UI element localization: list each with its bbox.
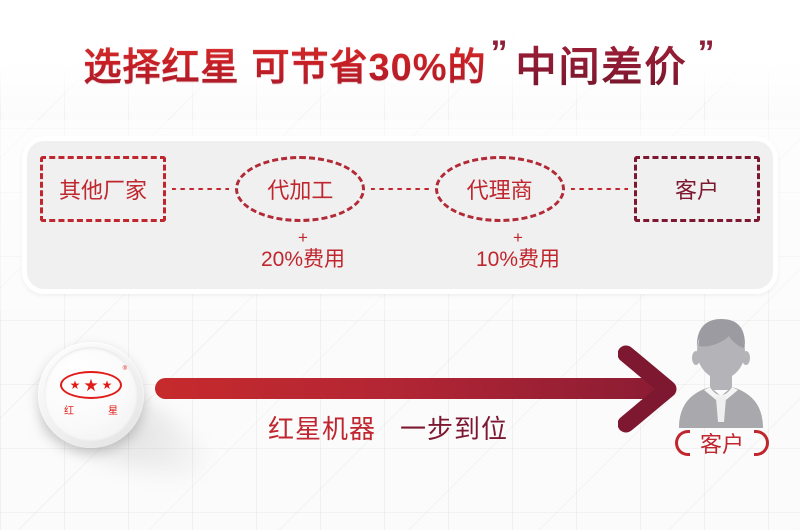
bracket-left-icon xyxy=(675,430,690,456)
fee-amount: 20%费用 xyxy=(228,248,378,272)
logo-stars-ellipse: ★ ★ ★ ® xyxy=(60,371,122,399)
fee-plus-sign: + xyxy=(228,228,378,248)
logo-badge-face: ★ ★ ★ ® 红 星 xyxy=(44,347,138,441)
flow-node-label: 代加工 xyxy=(267,173,333,205)
flow-node-label: 其他厂家 xyxy=(59,173,147,205)
logo-char-xing: 星 xyxy=(108,402,118,417)
flow-node-other-factory: 其他厂家 xyxy=(40,156,166,222)
flow-connector-2 xyxy=(371,187,428,191)
customer-tag: 客户 xyxy=(652,426,792,460)
flow-node-customer: 客户 xyxy=(634,156,760,222)
tagline-direct: 一步到位 xyxy=(400,409,508,446)
middleman-flow-panel: 其他厂家 代加工 代理商 客户 + 20%费用 + 10%费用 xyxy=(22,136,778,294)
logo-char-hong: 红 xyxy=(64,402,74,417)
headline-middle: 可节省30%的 xyxy=(251,36,486,91)
star-icon-left: ★ xyxy=(70,379,81,391)
flow-chain: 其他厂家 代加工 代理商 客户 xyxy=(22,154,778,224)
headline-lead: 选择红星 xyxy=(83,36,239,91)
flow-node-label: 代理商 xyxy=(467,173,533,205)
star-icon-center: ★ xyxy=(83,377,98,394)
headline: 选择红星 可节省30%的 ” 中间差价 ” xyxy=(0,32,800,94)
flow-node-agent: 代理商 xyxy=(435,156,565,222)
star-icon-right: ★ xyxy=(102,379,113,391)
quote-open-mark: ” xyxy=(487,34,510,73)
fee-amount: 10%费用 xyxy=(443,248,593,272)
logo-badge: ★ ★ ★ ® 红 星 xyxy=(38,342,144,448)
promo-graphic: 选择红星 可节省30%的 ” 中间差价 ” 其他厂家 代加工 代理商 客户 xyxy=(0,0,800,530)
registered-mark-icon: ® xyxy=(123,366,127,372)
customer-avatar-icon xyxy=(666,318,776,428)
fee-markup-agent: + 10%费用 xyxy=(443,228,593,272)
headline-highlight: 中间差价 xyxy=(510,33,694,93)
tagline-brand: 红星机器 xyxy=(268,409,376,446)
logo-wordmark: 红 星 xyxy=(60,402,122,417)
bracket-right-icon xyxy=(754,430,769,456)
fee-plus-sign: + xyxy=(443,228,593,248)
flow-node-oem: 代加工 xyxy=(235,156,365,222)
fee-markup-oem: + 20%费用 xyxy=(228,228,378,272)
quote-close-mark: ” xyxy=(694,34,717,73)
customer-tag-label: 客户 xyxy=(700,427,744,459)
flow-connector-3 xyxy=(571,187,628,191)
flow-node-label: 客户 xyxy=(675,173,719,205)
direct-arrow-shaft xyxy=(155,378,660,399)
flow-connector-1 xyxy=(172,187,229,191)
